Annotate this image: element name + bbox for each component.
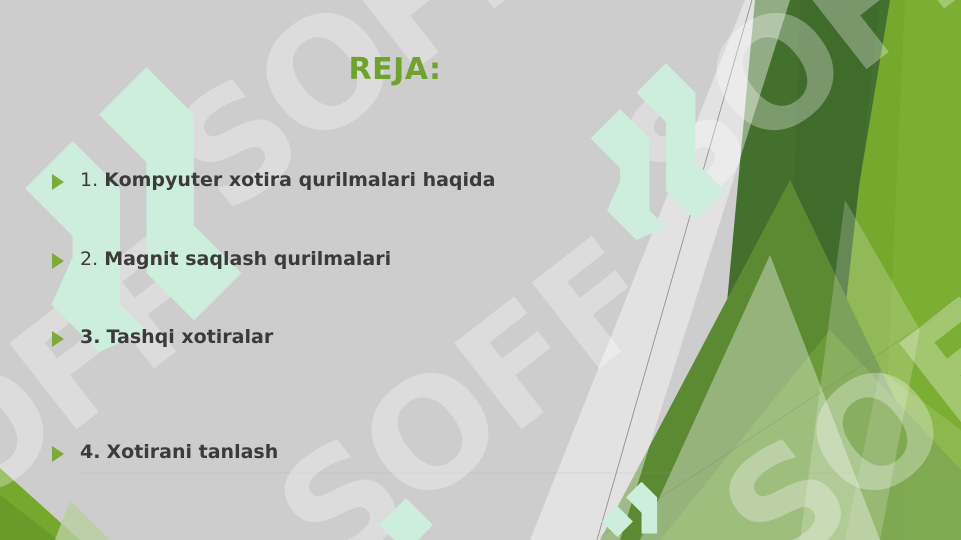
list-item-label: Xotirani tanlash — [107, 441, 279, 463]
list-item: 3. Tashqi xotiralar — [52, 325, 273, 350]
triangle-right-icon — [52, 331, 64, 347]
slide-content: REJA: 1. Kompyuter xotira qurilmalari ha… — [0, 0, 961, 540]
list-item-label: Tashqi xotiralar — [107, 326, 274, 348]
list-item-number: 4. — [80, 441, 100, 463]
list-item-text: 1. Kompyuter xotira qurilmalari haqida — [80, 168, 495, 193]
list-item-text: 4. Xotirani tanlash — [80, 440, 278, 465]
triangle-right-icon — [52, 174, 64, 190]
list-item-label: Magnit saqlash qurilmalari — [104, 248, 391, 270]
list-item-label: Kompyuter xotira qurilmalari haqida — [104, 169, 495, 191]
list-item-text: 2. Magnit saqlash qurilmalari — [80, 247, 391, 272]
page-title: REJA: — [0, 52, 790, 87]
list-item: 1. Kompyuter xotira qurilmalari haqida — [52, 168, 495, 193]
list-item: 4. Xotirani tanlash — [52, 440, 278, 465]
list-item-number: 2. — [80, 248, 98, 270]
list-item-text: 3. Tashqi xotiralar — [80, 325, 273, 350]
triangle-right-icon — [52, 446, 64, 462]
slide-canvas: SOFF SOFF SOFF SOFF SOFF — [0, 0, 961, 540]
list-item-number: 3. — [80, 326, 100, 348]
list-item-number: 1. — [80, 169, 98, 191]
list-item: 2. Magnit saqlash qurilmalari — [52, 247, 391, 272]
triangle-right-icon — [52, 253, 64, 269]
